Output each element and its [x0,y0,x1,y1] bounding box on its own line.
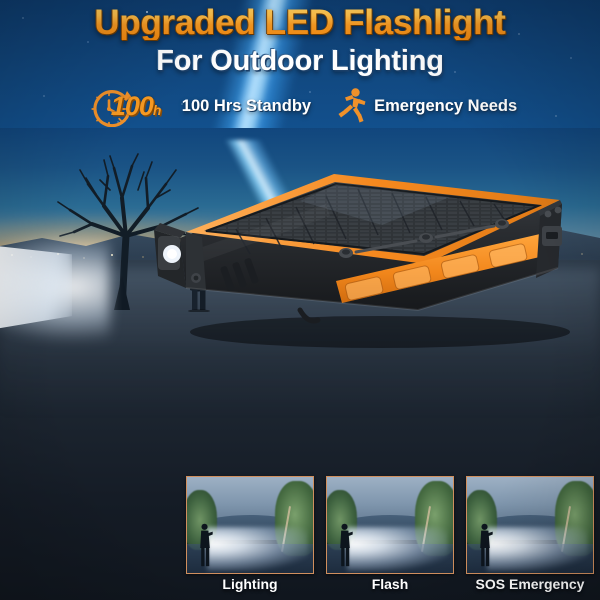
clock-badge-unit: h [153,102,161,118]
power-bank-illustration [150,160,580,350]
mode-thumbnail-row: Lighting Flash [0,476,600,600]
product-marketing-poster: Upgraded LED Flashlight For Outdoor Ligh… [0,0,600,600]
feature-row: 100h 100 Hrs Standby Emergency Needs [0,83,600,129]
thumb-light-beam [347,527,448,571]
feature-emergency: Emergency Needs [337,87,517,125]
thumb-light-beam [487,527,588,571]
thumb-light-beam [207,527,308,571]
mode-label-sos: SOS Emergency [466,576,594,592]
thumb-person-icon [338,523,353,567]
clock-badge: 100h [83,85,175,127]
page-title: Upgraded LED Flashlight [0,0,600,40]
feature-emergency-label: Emergency Needs [374,97,517,116]
mode-thumbnail-sos[interactable]: SOS Emergency [466,476,594,592]
feature-standby-label: 100 Hrs Standby [182,97,311,116]
solar-power-bank-product [150,160,580,350]
mode-label-lighting: Lighting [186,576,314,592]
thumbnail-frame [326,476,454,574]
thumbnail-frame [466,476,594,574]
thumb-person-icon [198,523,213,567]
clock-badge-number: 100 [111,91,153,121]
thumbnail-frame [186,476,314,574]
feature-standby: 100h 100 Hrs Standby [83,85,311,127]
mode-thumbnail-lighting[interactable]: Lighting [186,476,314,592]
mode-thumbnail-flash[interactable]: Flash [326,476,454,592]
running-person-icon [337,87,367,125]
headline-block: Upgraded LED Flashlight For Outdoor Ligh… [0,0,600,76]
page-subtitle: For Outdoor Lighting [0,47,600,76]
thumb-person-icon [478,523,493,567]
mode-label-flash: Flash [326,576,454,592]
clock-badge-value: 100h [111,91,161,122]
